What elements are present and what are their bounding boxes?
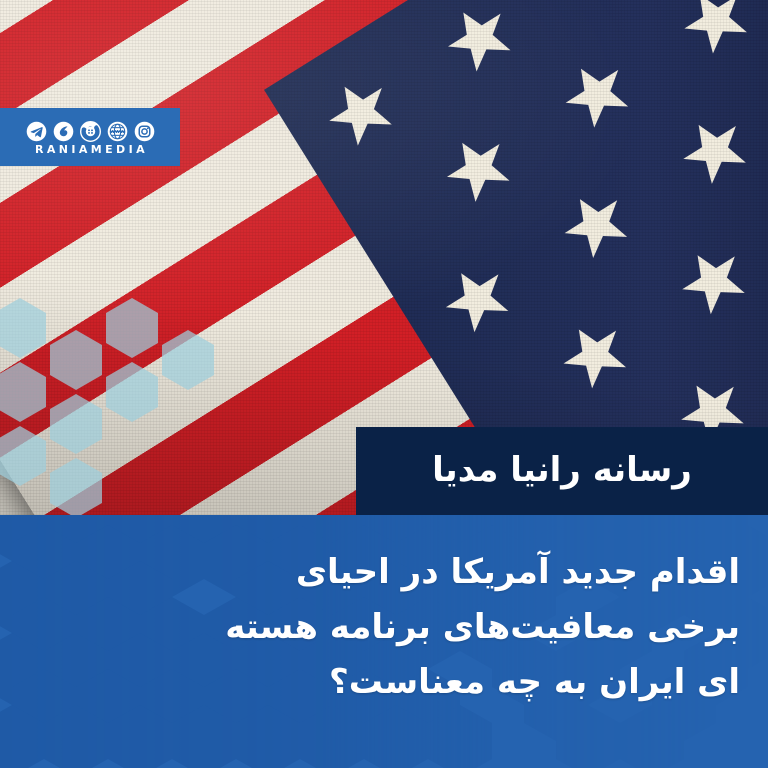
- instagram-icon[interactable]: [134, 121, 155, 142]
- aparat-icon[interactable]: [80, 121, 101, 142]
- headline-band: اقدام جدید آمریکا در احیای برخی معافیت‌ه…: [0, 515, 768, 768]
- website-www-icon[interactable]: www: [107, 121, 128, 142]
- brand-name-text: RANIAMEDIA: [32, 144, 148, 155]
- news-card: www RANIAMEDIA رسانه رانی: [0, 0, 768, 768]
- headline-line-2: برخی معافیت‌های برنامه هسته: [120, 600, 740, 655]
- telegram-icon[interactable]: [26, 121, 47, 142]
- svg-text:www: www: [109, 128, 125, 134]
- brand-banner: رسانه رانیا مدیا: [356, 427, 768, 518]
- brand-banner-text: رسانه رانیا مدیا: [432, 453, 692, 487]
- brand-logo-box[interactable]: www RANIAMEDIA: [0, 108, 180, 166]
- bale-icon[interactable]: [53, 121, 74, 142]
- headline-text: اقدام جدید آمریکا در احیای برخی معافیت‌ه…: [120, 545, 740, 710]
- headline-line-1: اقدام جدید آمریکا در احیای: [120, 545, 740, 600]
- headline-line-3: ای ایران به چه معناست؟: [120, 655, 740, 710]
- social-icons-row: www: [26, 121, 155, 142]
